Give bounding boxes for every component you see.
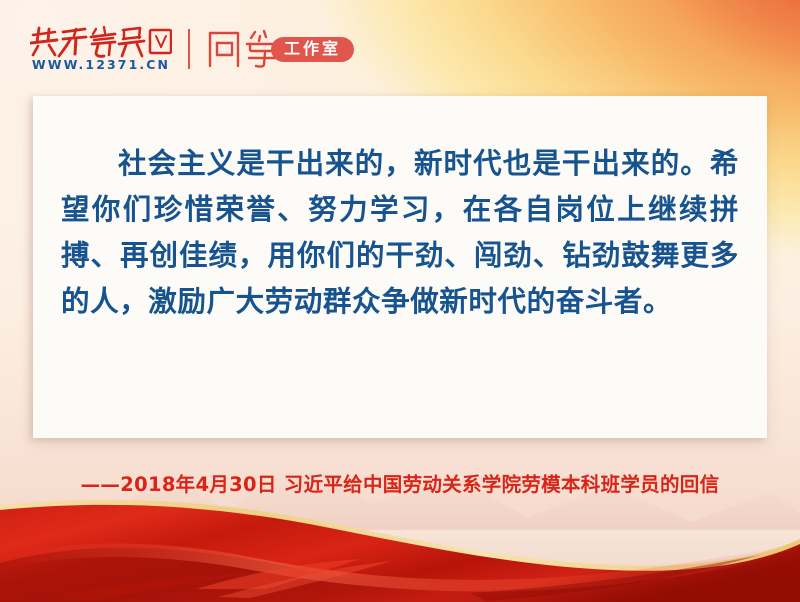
- poster-canvas: WWW.12371.CN: [0, 0, 800, 602]
- site-url: WWW.12371.CN: [32, 59, 170, 72]
- header-divider: [188, 29, 190, 69]
- studio-badge: 工作室: [271, 37, 354, 62]
- quote-text: 社会主义是干出来的，新时代也是干出来的。希望你们珍惜荣誉、努力学习，在各自岗位上…: [61, 140, 739, 325]
- site-header: WWW.12371.CN: [30, 18, 354, 80]
- quote-card: 社会主义是干出来的，新时代也是干出来的。希望你们珍惜荣誉、努力学习，在各自岗位上…: [33, 96, 767, 438]
- red-ribbon-decoration: [0, 477, 800, 602]
- studio-logo[interactable]: 工作室: [205, 29, 354, 69]
- site-logo[interactable]: WWW.12371.CN: [30, 26, 172, 72]
- site-logo-calligraphy-icon: [30, 26, 172, 58]
